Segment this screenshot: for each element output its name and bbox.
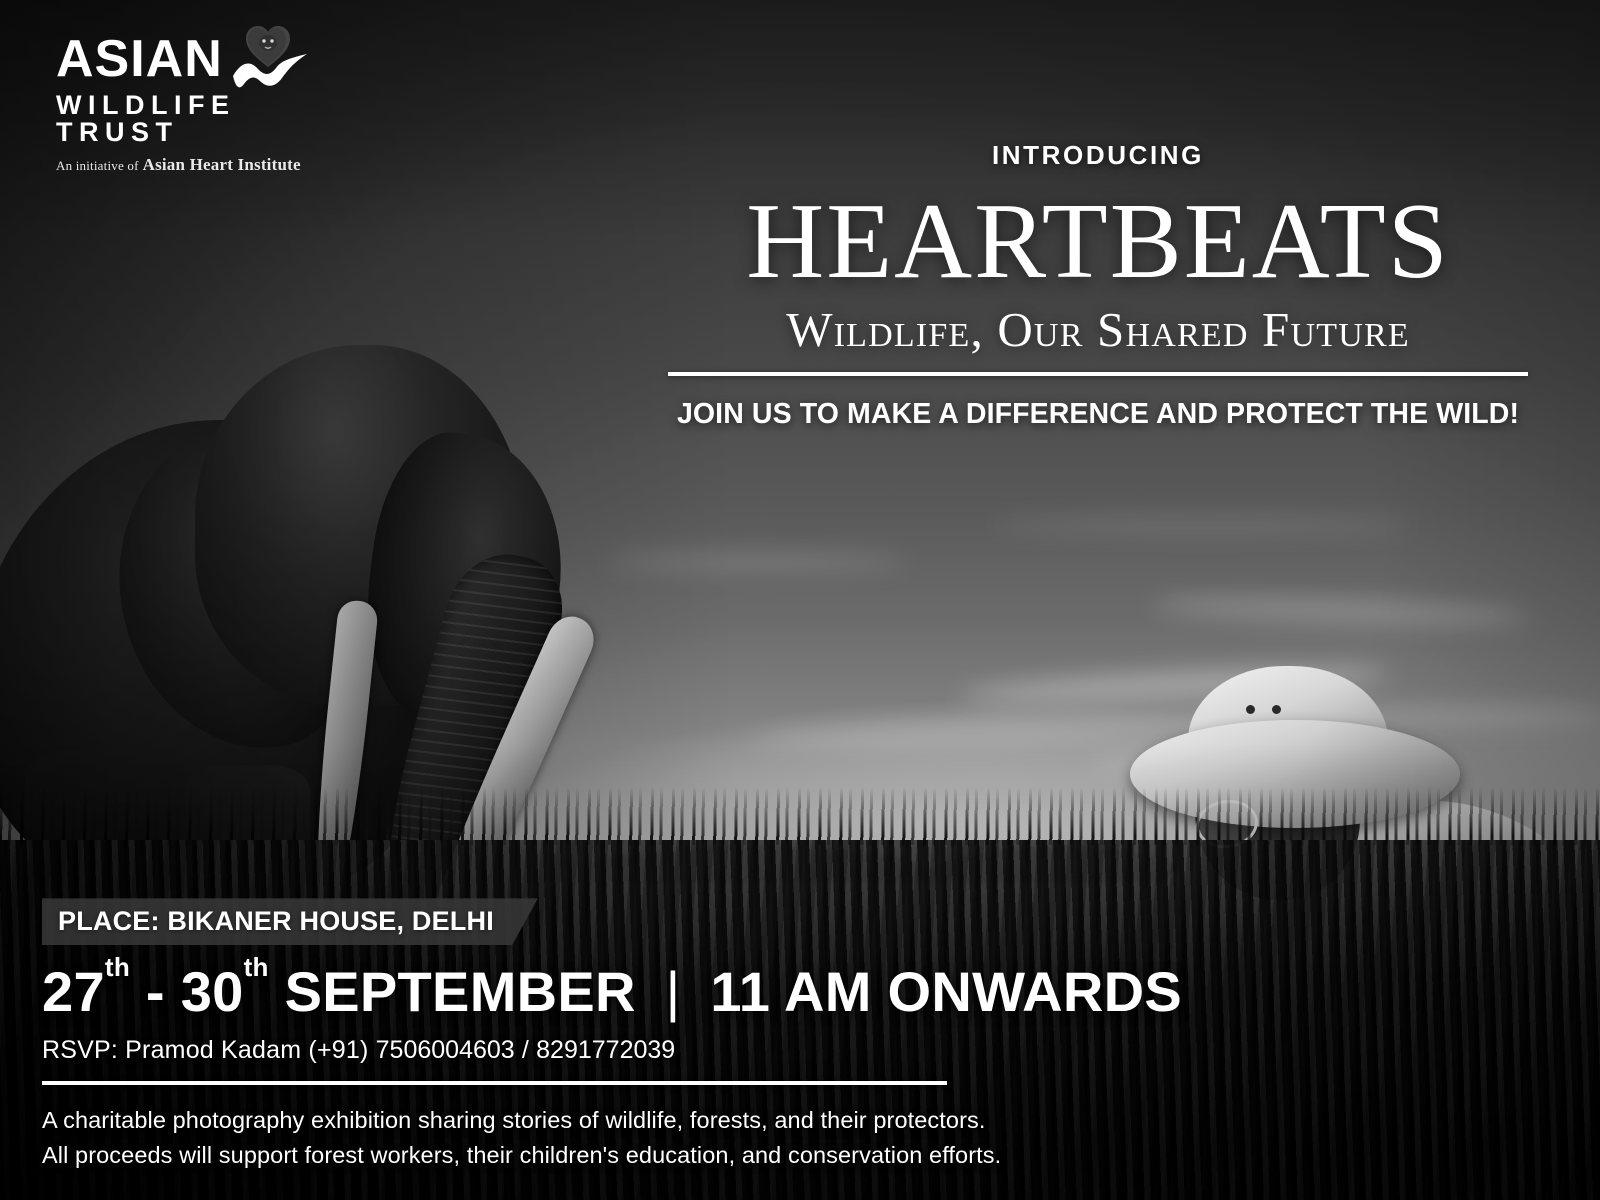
call-to-action-tagline: JOIN US TO MAKE A DIFFERENCE AND PROTECT… xyxy=(668,398,1528,431)
logo-tagline-small: An initiative of xyxy=(56,158,139,173)
rsvp-country-code: (+91) xyxy=(308,1036,368,1064)
logo-word-asian: ASIAN xyxy=(56,33,223,85)
place-badge: PLACE: BIKANER HOUSE, DELHI xyxy=(42,898,538,945)
logo-mark xyxy=(231,28,309,90)
event-date-time: 27th - 30th SEPTEMBER | 11 AM ONWARDS xyxy=(42,959,1062,1024)
event-info-block: PLACE: BIKANER HOUSE, DELHI 27th - 30th … xyxy=(42,898,1062,1172)
description-line-2: All proceeds will support forest workers… xyxy=(42,1138,1062,1172)
asian-wildlife-trust-logo: ASIAN WILDLIFE TRUST xyxy=(56,28,356,175)
rsvp-phone-separator: / xyxy=(522,1036,529,1064)
event-time: 11 AM ONWARDS xyxy=(710,960,1182,1023)
date-start-suffix: th xyxy=(105,952,130,982)
rsvp-phone-secondary: 8291772039 xyxy=(536,1036,675,1064)
info-divider xyxy=(42,1081,947,1085)
event-poster: ASIAN WILDLIFE TRUST xyxy=(0,0,1600,1200)
logo-tagline: An initiative of Asian Heart Institute xyxy=(56,155,356,175)
date-start: 27 xyxy=(42,960,105,1023)
event-month: SEPTEMBER xyxy=(285,960,636,1023)
event-description: A charitable photography exhibition shar… xyxy=(42,1103,1062,1172)
poster-title: HEARTBEATS xyxy=(668,187,1528,297)
rsvp-contact-name: RSVP: Pramod Kadam xyxy=(42,1036,301,1064)
date-time-separator: | xyxy=(652,959,695,1024)
logo-tagline-big: Asian Heart Institute xyxy=(143,155,301,174)
poster-subtitle: Wildlife, Our Shared Future xyxy=(668,301,1528,358)
description-line-1: A charitable photography exhibition shar… xyxy=(42,1103,1062,1137)
headline-divider xyxy=(668,372,1528,376)
rsvp-line: RSVP: Pramod Kadam (+91) 7506004603 / 82… xyxy=(42,1036,1062,1065)
logo-word-wildlife-trust: WILDLIFE TRUST xyxy=(56,92,356,146)
headline-block: INTRODUCING HEARTBEATS Wildlife, Our Sha… xyxy=(668,140,1528,431)
caring-hand-swoosh-icon xyxy=(231,52,309,90)
date-end: 30 xyxy=(181,960,244,1023)
rsvp-phone-primary: 7506004603 xyxy=(376,1036,515,1064)
date-dash: - xyxy=(146,960,165,1023)
introducing-label: INTRODUCING xyxy=(668,140,1528,171)
date-end-suffix: th xyxy=(244,952,269,982)
